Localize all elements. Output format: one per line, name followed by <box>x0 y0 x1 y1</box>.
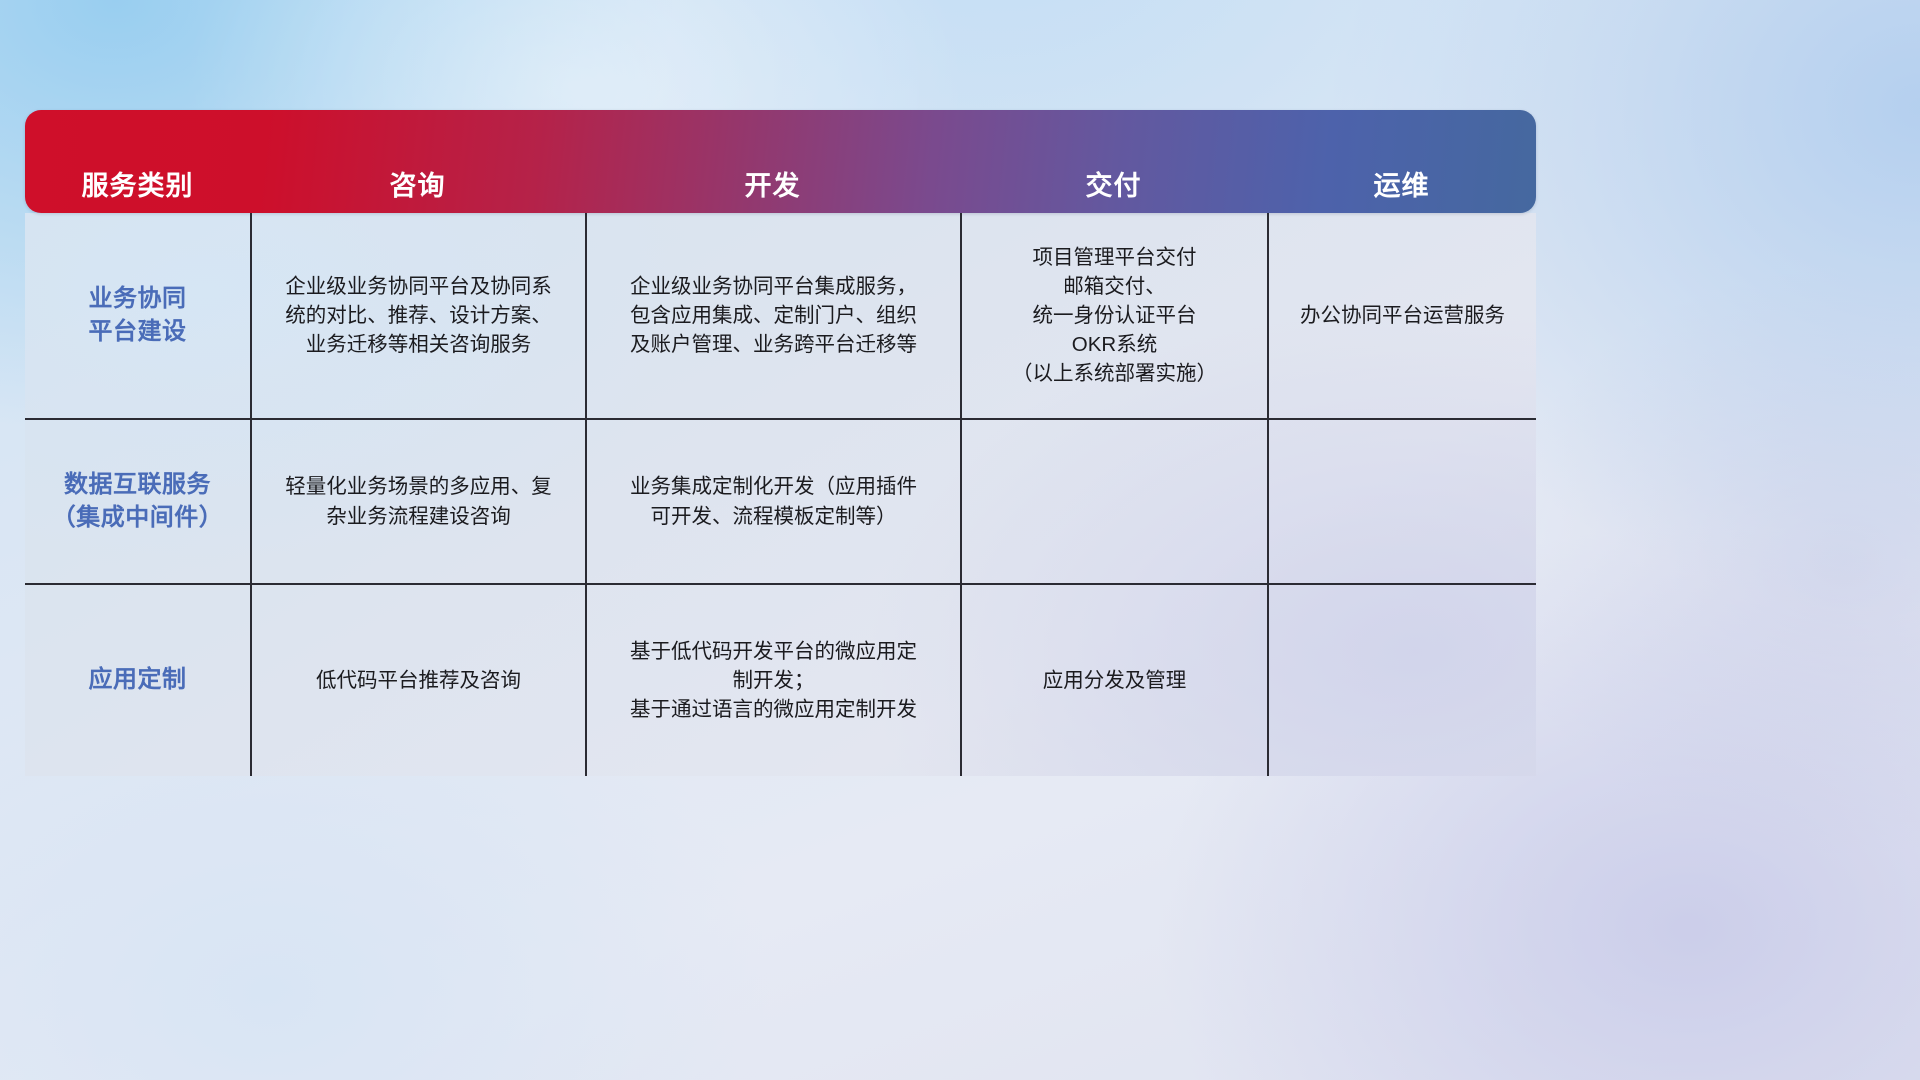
table-row: 业务协同 平台建设 企业级业务协同平台及协同系 统的对比、推荐、设计方案、 业务… <box>25 213 1536 418</box>
table-row: 数据互联服务 （集成中间件） 轻量化业务场景的多应用、复 杂业务流程建设咨询 业… <box>25 418 1536 583</box>
cell-delivery-1: 项目管理平台交付 邮箱交付、 统一身份认证平台 OKR系统 （以上系统部署实施） <box>960 213 1267 418</box>
cell-development-2: 业务集成定制化开发（应用插件 可开发、流程模板定制等） <box>585 420 960 583</box>
table-body: 业务协同 平台建设 企业级业务协同平台及协同系 统的对比、推荐、设计方案、 业务… <box>25 213 1536 776</box>
cell-consulting-3: 低代码平台推荐及咨询 <box>250 585 585 776</box>
cell-delivery-2 <box>960 420 1267 583</box>
cell-development-1: 企业级业务协同平台集成服务， 包含应用集成、定制门户、组织 及账户管理、业务跨平… <box>585 213 960 418</box>
table-header-row: 服务类别 咨询 开发 交付 运维 <box>25 110 1536 213</box>
table-row: 应用定制 低代码平台推荐及咨询 基于低代码开发平台的微应用定 制开发； 基于通过… <box>25 583 1536 776</box>
service-matrix-table: 服务类别 咨询 开发 交付 运维 业务协同 平台建设 企业级业务协同平台及协同系… <box>25 110 1536 776</box>
cell-operations-3 <box>1267 585 1536 776</box>
column-header-category: 服务类别 <box>25 173 250 200</box>
cell-operations-2 <box>1267 420 1536 583</box>
cell-category-3: 应用定制 <box>25 585 250 776</box>
cell-development-3: 基于低代码开发平台的微应用定 制开发； 基于通过语言的微应用定制开发 <box>585 585 960 776</box>
column-header-operations: 运维 <box>1267 173 1536 200</box>
column-header-delivery: 交付 <box>960 173 1267 200</box>
column-header-consulting: 咨询 <box>250 173 585 200</box>
cell-consulting-1: 企业级业务协同平台及协同系 统的对比、推荐、设计方案、 业务迁移等相关咨询服务 <box>250 213 585 418</box>
cell-operations-1: 办公协同平台运营服务 <box>1267 213 1536 418</box>
cell-category-1: 业务协同 平台建设 <box>25 213 250 418</box>
cell-consulting-2: 轻量化业务场景的多应用、复 杂业务流程建设咨询 <box>250 420 585 583</box>
cell-delivery-3: 应用分发及管理 <box>960 585 1267 776</box>
column-header-development: 开发 <box>585 173 960 200</box>
cell-category-2: 数据互联服务 （集成中间件） <box>25 420 250 583</box>
